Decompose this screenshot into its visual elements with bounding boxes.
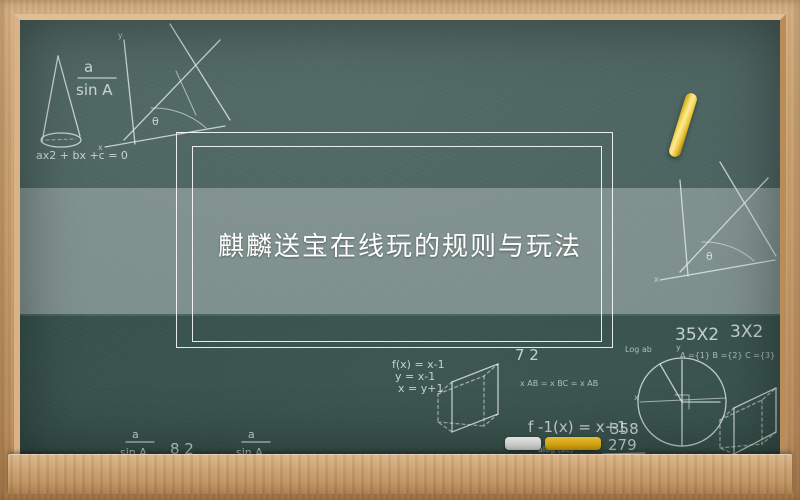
yellow-chalk-icon [545, 437, 601, 450]
chalk-ledge [8, 454, 792, 494]
page-title: 麒麟送宝在线玩的规则与玩法 [20, 232, 780, 262]
white-chalk-icon [505, 437, 541, 450]
board-upper-area [20, 20, 780, 316]
board-lower-area [20, 316, 780, 454]
chalkboard-surface: a sin A ax2 + bx +c = 0 y x θ [20, 20, 780, 454]
chalkboard-title-card: a sin A ax2 + bx +c = 0 y x θ [0, 0, 800, 500]
